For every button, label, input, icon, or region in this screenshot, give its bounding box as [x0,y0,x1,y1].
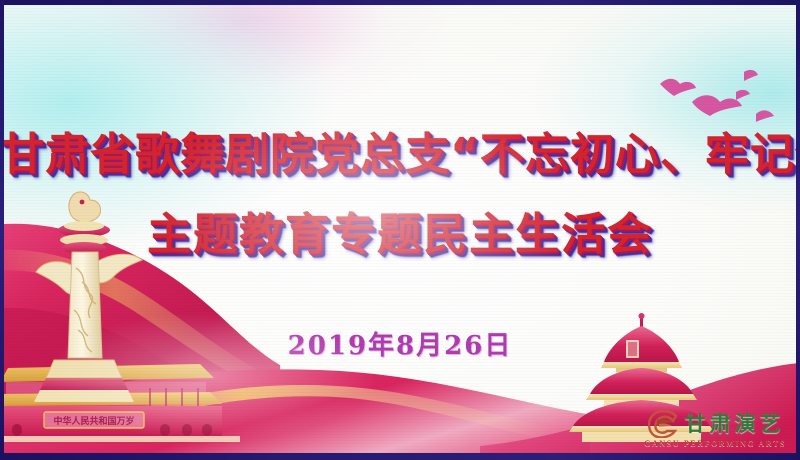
logo-row: 甘肃演艺 [646,408,785,438]
gansu-performing-arts-logo: 甘肃演艺 GANSU PERFORMING ARTS [644,408,786,448]
poster-stage: 中华人民共和国万岁 [0,0,800,460]
logo-english-name: GANSU PERFORMING ARTS [644,439,786,448]
frame-right-edge [796,0,800,460]
frame-left-edge [0,0,4,460]
poster-date: 2019年8月26日 [0,325,800,362]
logo-chinese-name: 甘肃演艺 [685,408,785,438]
poster-title-line-2: 主题教育专题民主生活会 [0,198,800,262]
frame-top-edge [0,0,800,5]
frame-bottom-edge [0,453,800,460]
poster-title-line-1: 甘肃省歌舞剧院党总支“不忘初心、牢记使命” [0,118,800,182]
logo-mark-icon [646,408,680,438]
